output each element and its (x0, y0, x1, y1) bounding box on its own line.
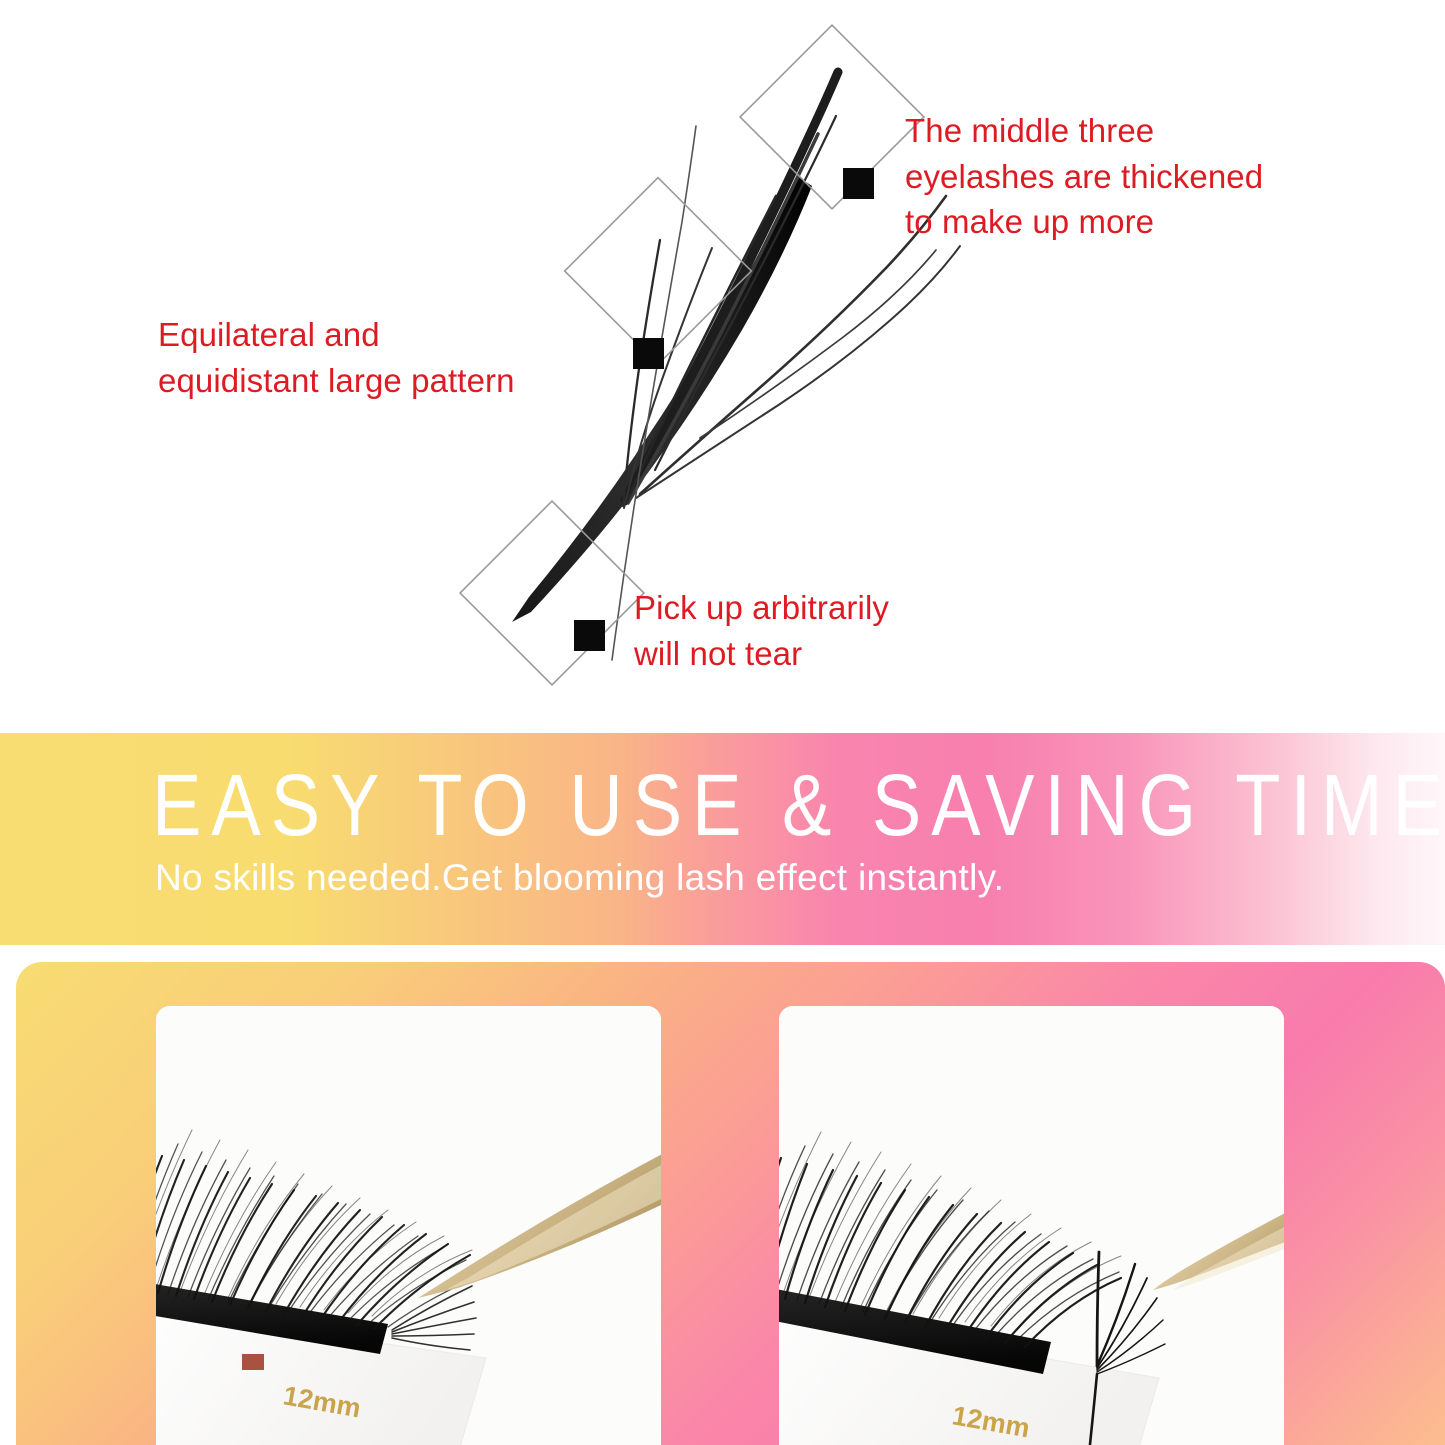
callout-no-tear: Pick up arbitrarily will not tear (634, 585, 889, 676)
lash-strand-6 (636, 246, 960, 498)
product-photo-section: 12mm (0, 945, 1445, 1445)
lash-tray-photo-right: 12mm (779, 1006, 1284, 1445)
marker-square-bottom (574, 620, 605, 651)
callout-middle-three: The middle three eyelashes are thickened… (905, 108, 1263, 245)
marker-square-left (633, 338, 664, 369)
diamond-marker-top-right (740, 25, 924, 209)
marker-square-top-right (843, 168, 874, 199)
lash-strand-5 (640, 196, 946, 494)
callout-equilateral: Equilateral and equidistant large patter… (158, 312, 515, 403)
photo-card-right[interactable]: 12mm (779, 1006, 1284, 1445)
lash-tray-photo-left: 12mm (156, 1006, 661, 1445)
feature-diagram-section: The middle three eyelashes are thickened… (0, 0, 1445, 733)
gradient-panel: 12mm (16, 962, 1445, 1445)
banner-subtitle: No skills needed.Get blooming lash effec… (155, 857, 1004, 899)
diamond-marker-bottom (460, 501, 644, 685)
product-infographic-page: The middle three eyelashes are thickened… (0, 0, 1445, 1445)
banner-title: EASY TO USE & SAVING TIME (152, 755, 1445, 855)
easy-to-use-banner: EASY TO USE & SAVING TIME No skills need… (0, 733, 1445, 945)
photo-card-left[interactable]: 12mm (156, 1006, 661, 1445)
